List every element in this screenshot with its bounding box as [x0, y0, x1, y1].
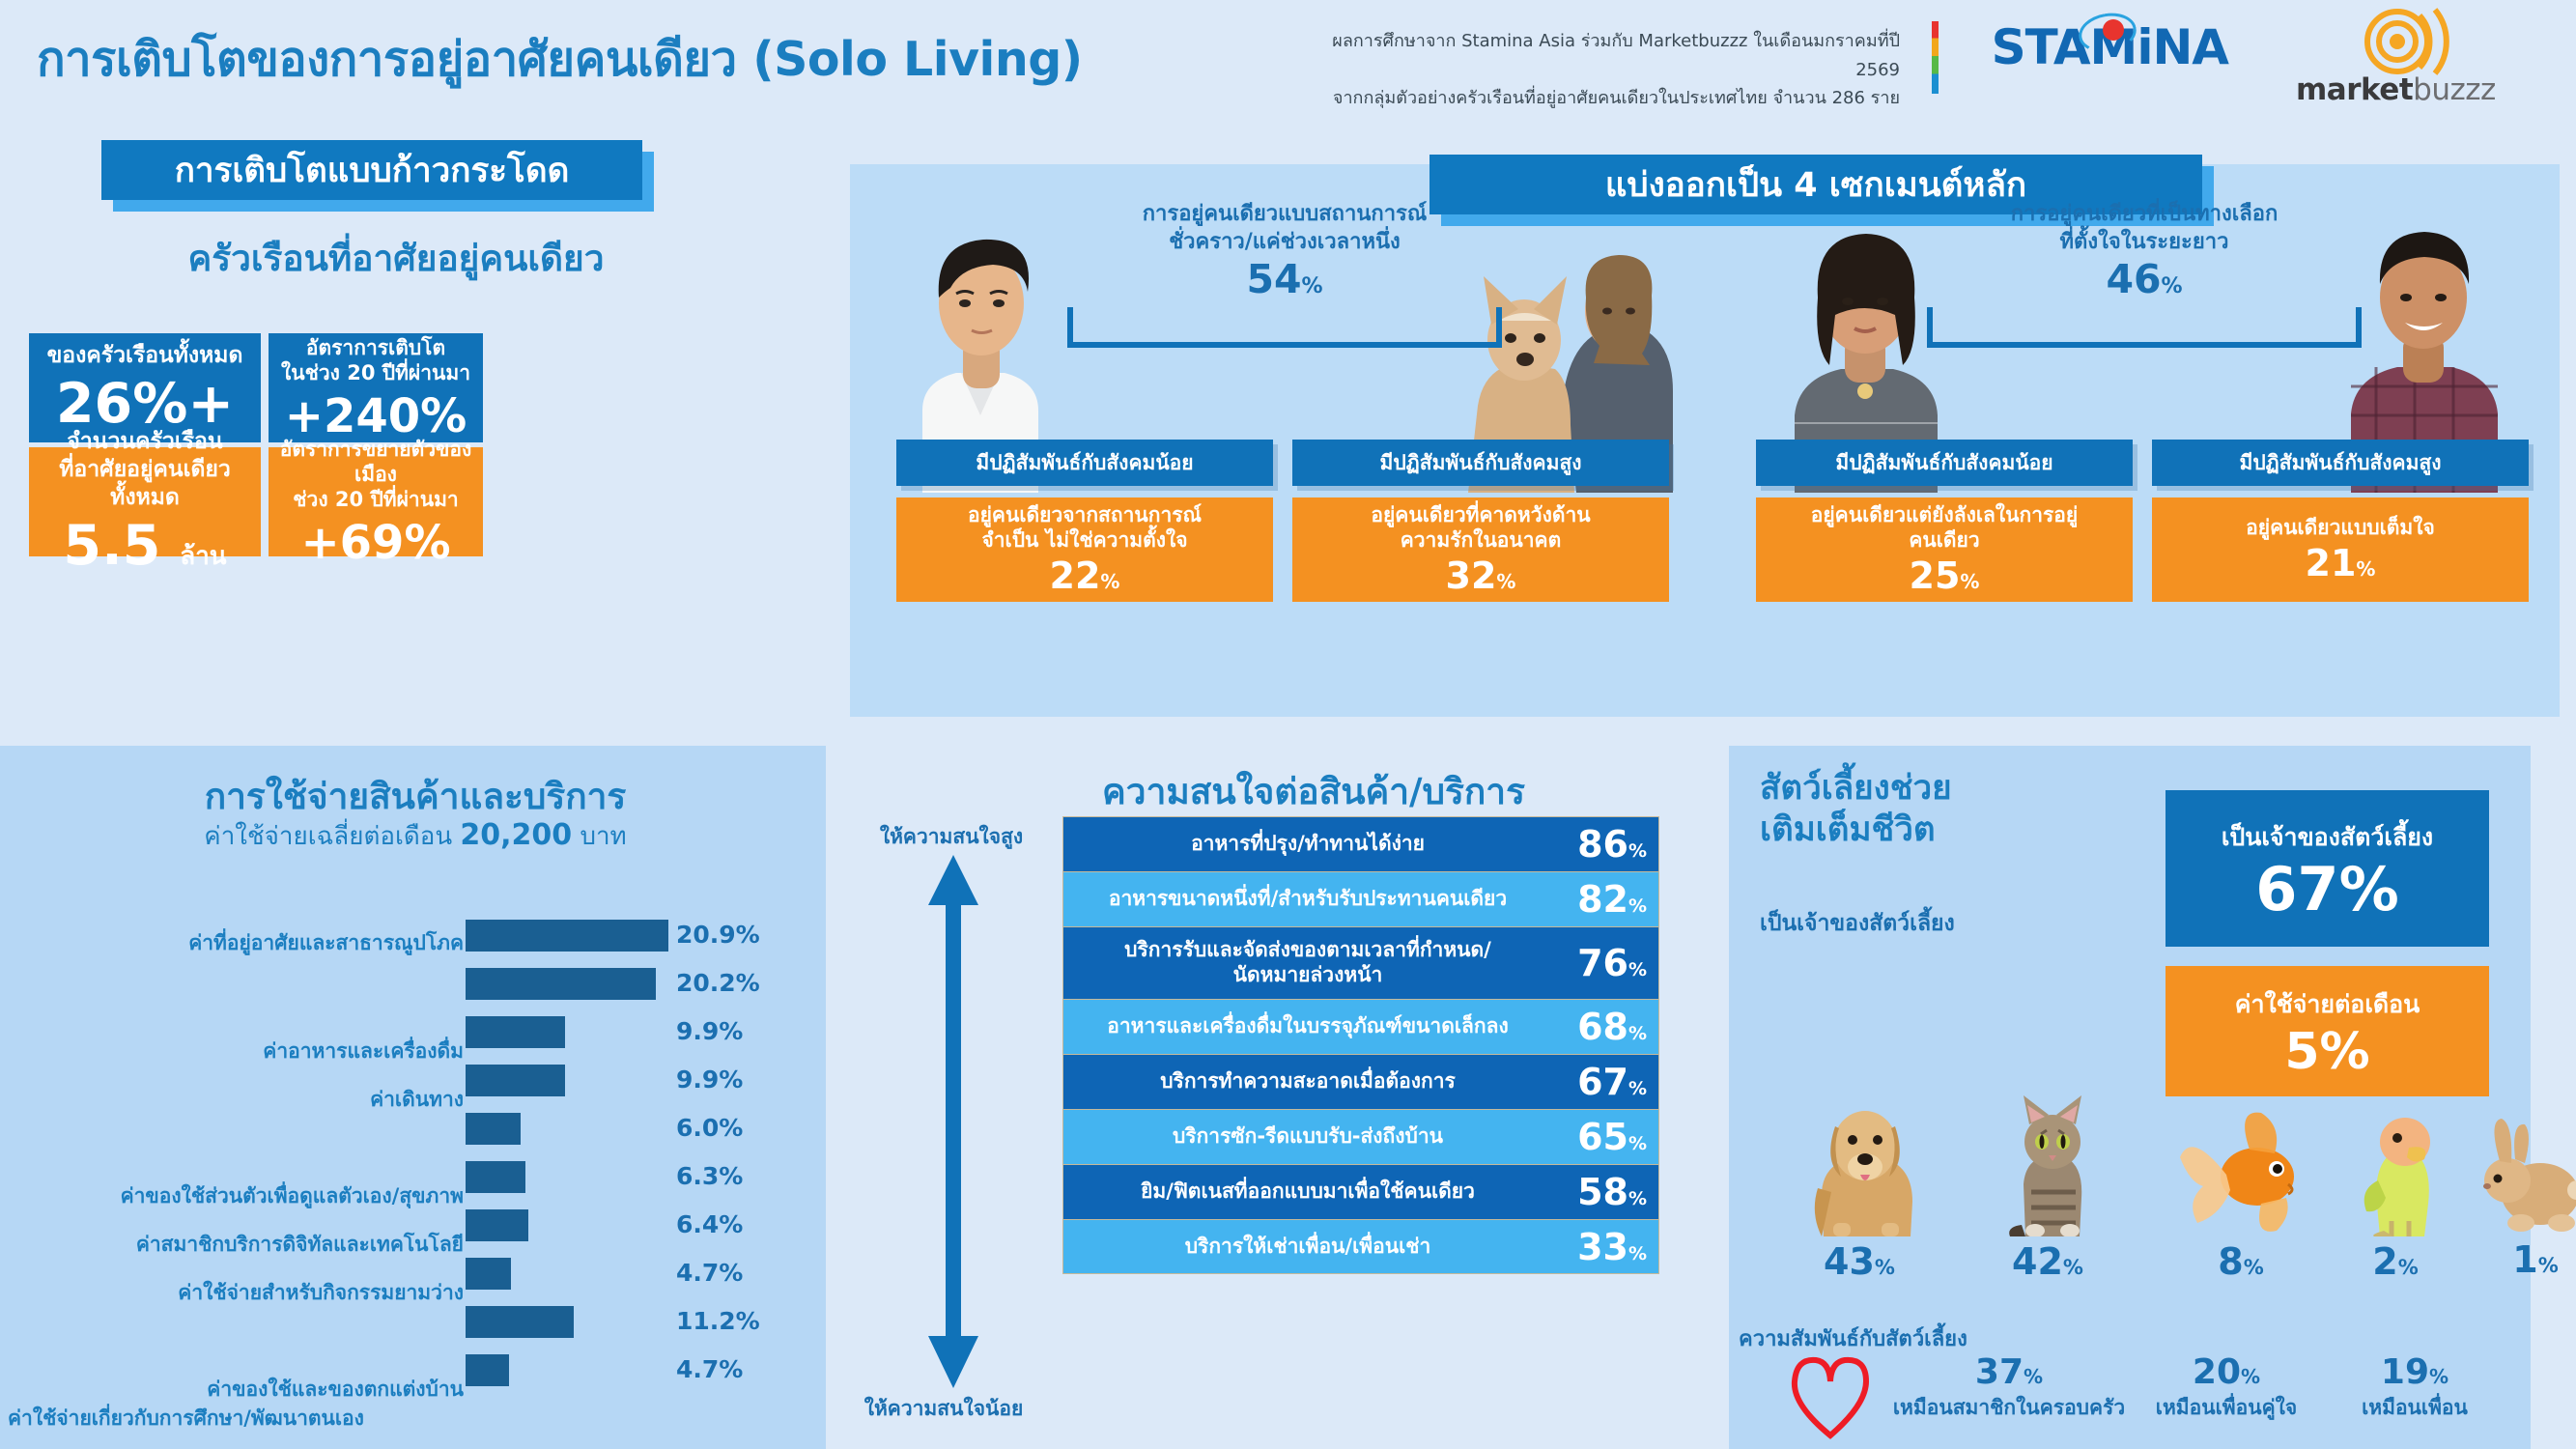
segment-data-box: อยู่คนเดียวแต่ยังลังเลในการอยู่ คนเดียว … — [1756, 497, 2133, 602]
spending-subtitle: ค่าใช้จ่ายเฉลี่ยต่อเดือน 20,200 บาท — [39, 816, 792, 856]
source-line-2: จากกลุ่มตัวอย่างครัวเรือนที่อยู่อาศัยคนเ… — [1311, 84, 1900, 113]
segment-percent-unit: % — [2162, 274, 2183, 298]
interest-percent: 33% — [1552, 1226, 1658, 1268]
growth-banner-label: การเติบโตแบบก้าวกระโดด — [101, 140, 642, 200]
pet-percent: 2% — [2318, 1240, 2473, 1283]
interest-percent-unit: % — [1628, 1078, 1647, 1099]
segment-data-number: 22 — [1050, 554, 1101, 597]
interest-percent-number: 82 — [1577, 878, 1628, 921]
bar-fill — [466, 1258, 511, 1290]
segment-label-low-social: มีปฏิสัมพันธ์กับสังคมน้อย — [1756, 440, 2133, 486]
stat-caption: อัตราการขยายตัวของเมือง ช่วง 20 ปีที่ผ่า… — [276, 437, 475, 513]
bar-value-label: 6.4% — [676, 1210, 802, 1238]
bar-row: ค่าใช้จ่ายสำหรับกิจกรรมยามว่าง4.7% — [0, 1256, 826, 1304]
interest-label: บริการรับและจัดส่งของตามเวลาที่กำหนด/ นั… — [1063, 938, 1552, 987]
interest-label: ยิม/ฟิตเนสที่ออกแบบมาเพื่อใช้คนเดียว — [1063, 1179, 1552, 1205]
segment-heading: การอยู่คนเดียวที่เป็นทางเลือก ที่ตั้งใจใ… — [1845, 201, 2444, 256]
interest-label: บริการให้เช่าเพื่อน/เพื่อนเช่า — [1063, 1235, 1552, 1260]
interest-row: บริการทำความสะอาดเมื่อต้องการ67% — [1062, 1054, 1659, 1109]
stat-box-households-share: ของครัวเรือนทั้งหมด 26%+ — [29, 333, 261, 442]
segment-data-box: อยู่คนเดียวที่คาดหวังด้าน ความรักในอนาคต… — [1292, 497, 1669, 602]
spending-subtitle-suffix: บาท — [580, 822, 626, 851]
marketbuzzz-light: buzzz — [2413, 72, 2496, 107]
bar-fill — [466, 1306, 574, 1338]
bar-fill — [466, 1209, 528, 1241]
bar-row: 11.2% — [0, 1304, 826, 1352]
growth-subtitle: ครัวเรือนที่อาศัยอยู่คนเดียว — [58, 230, 734, 287]
segment-label-high-social: มีปฏิสัมพันธ์กับสังคมสูง — [1292, 440, 1669, 486]
segment-data-text: อยู่คนเดียวแบบเต็มใจ — [2246, 515, 2435, 540]
pet-relation-friend: 19% เหมือนเพื่อน — [2318, 1352, 2511, 1424]
interest-percent-unit: % — [1628, 959, 1647, 980]
segment-data-unit: % — [1100, 570, 1119, 593]
stat-value: 5.5 ล้าน — [63, 518, 226, 576]
segment-data-unit: % — [1960, 570, 1979, 593]
relation-label: เหมือนสมาชิกในครอบครัว — [1874, 1392, 2144, 1424]
interest-percent-unit: % — [1628, 840, 1647, 862]
stat-value: +69% — [300, 519, 450, 567]
interest-percent-number: 58 — [1577, 1171, 1628, 1213]
interest-row: อาหารและเครื่องดื่มในบรรจุภัณฑ์ขนาดเล็กล… — [1062, 999, 1659, 1054]
relation-percent-number: 19 — [2381, 1352, 2429, 1392]
interest-percent: 76% — [1552, 942, 1658, 984]
interest-percent-number: 33 — [1577, 1226, 1628, 1268]
pet-relation-soulmate: 20% เหมือนเพื่อนคู่ใจ — [2115, 1352, 2337, 1424]
interest-axis-low-label: ให้ความสนใจน้อย — [842, 1393, 1045, 1425]
stat-number: 5.5 — [63, 514, 160, 578]
pet-stat-monthly-spend: ค่าใช้จ่ายต่อเดือน 5% — [2166, 966, 2489, 1096]
bar-row: ค่าสมาชิกบริการดิจิทัลและเทคโนโลยี6.4% — [0, 1207, 826, 1256]
interest-row: อาหารขนาดหนึ่งที่/สำหรับรับประทานคนเดียว… — [1062, 871, 1659, 926]
interest-row: บริการให้เช่าเพื่อน/เพื่อนเช่า33% — [1062, 1219, 1659, 1274]
bar-row: 20.2% — [0, 966, 826, 1014]
source-line-1: ผลการศึกษาจาก Stamina Asia ร่วมกับ Marke… — [1311, 27, 1900, 84]
heart-icon — [1787, 1350, 1874, 1446]
segment-label-low-social: มีปฏิสัมพันธ์กับสังคมน้อย — [896, 440, 1273, 486]
interest-row: บริการซัก-รีดแบบรับ-ส่งถึงบ้าน65% — [1062, 1109, 1659, 1164]
relation-label: เหมือนเพื่อนคู่ใจ — [2115, 1392, 2337, 1424]
relation-percent-unit: % — [2429, 1365, 2449, 1388]
interest-percent-number: 65 — [1577, 1116, 1628, 1158]
bar-value-label: 9.9% — [676, 1065, 802, 1094]
interest-label: อาหารขนาดหนึ่งที่/สำหรับรับประทานคนเดียว — [1063, 887, 1552, 912]
pet-stat-value: 67% — [2255, 860, 2398, 920]
bar-category-label: ค่าของใช้และของตกแต่งบ้าน — [58, 1374, 464, 1406]
interest-percent-unit: % — [1628, 1243, 1647, 1264]
segment-data-unit: % — [2356, 557, 2375, 581]
stat-caption: จำนวนครัวเรือน ที่อาศัยอยู่คนเดียวทั้งหม… — [37, 428, 253, 511]
stat-value: +240% — [285, 392, 467, 440]
segment-data-text: อยู่คนเดียวแต่ยังลังเลในการอยู่ คนเดียว — [1811, 502, 2078, 554]
segment-heading: การอยู่คนเดียวแบบสถานการณ์ ชั่วคราว/แค่ช… — [985, 201, 1584, 256]
bar-fill — [466, 1016, 565, 1048]
rabbit-icon — [2458, 1111, 2576, 1238]
bar-row: ค่าของใช้ส่วนตัวเพื่อดูแลตัวเอง/สุขภาพ6.… — [0, 1159, 826, 1207]
segment-label-high-social: มีปฏิสัมพันธ์กับสังคมสูง — [2152, 440, 2529, 486]
marketbuzzz-wordmark: marketbuzzz — [2296, 72, 2496, 107]
bar-row: 6.0% — [0, 1111, 826, 1159]
bar-fill — [466, 1065, 565, 1096]
segment-data-number: 25 — [1910, 554, 1961, 597]
page-header: การเติบโตของการอยู่อาศัยคนเดียว (Solo Li… — [0, 0, 2576, 116]
stat-box-household-count: จำนวนครัวเรือน ที่อาศัยอยู่คนเดียวทั้งหม… — [29, 447, 261, 556]
segment-group-intentional: การอยู่คนเดียวที่เป็นทางเลือก ที่ตั้งใจใ… — [1729, 164, 2560, 717]
pet-cell-parrot: 2% — [2318, 1105, 2473, 1283]
pet-cell-goldfish: 8% — [2154, 1101, 2328, 1283]
bar-value-label: 4.7% — [676, 1355, 802, 1383]
stamina-dot-icon — [2103, 19, 2124, 41]
interest-percent-unit: % — [1628, 1133, 1647, 1154]
pet-cell-dog: 43% — [1758, 1092, 1961, 1283]
stat-caption: อัตราการเติบโต ในช่วง 20 ปีที่ผ่านมา — [281, 335, 470, 386]
page-title: การเติบโตของการอยู่อาศัยคนเดียว (Solo Li… — [37, 21, 1083, 97]
segment-data-unit: % — [1496, 570, 1515, 593]
pet-percent-unit: % — [1875, 1256, 1895, 1279]
spending-subtitle-prefix: ค่าใช้จ่ายเฉลี่ยต่อเดือน — [204, 822, 452, 851]
segment-percent-number: 54 — [1246, 256, 1301, 302]
segment-data-number: 32 — [1446, 554, 1497, 597]
segment-bracket — [1067, 307, 1502, 348]
interest-list: อาหารที่ปรุง/ทำทานได้ง่าย86%อาหารขนาดหนึ… — [1062, 816, 1659, 1274]
bar-fill — [466, 968, 656, 1000]
pet-relation-family: 37% เหมือนสมาชิกในครอบครัว — [1874, 1352, 2144, 1424]
segment-percent: 54% — [985, 256, 1584, 302]
stat-box-growth-rate: อัตราการเติบโต ในช่วง 20 ปีที่ผ่านมา +24… — [269, 333, 483, 442]
segment-data-text: อยู่คนเดียวจากสถานการณ์ จำเป็น ไม่ใช่ควา… — [968, 502, 1202, 554]
pet-percent-number: 8 — [2218, 1240, 2243, 1283]
interest-percent-number: 76 — [1577, 942, 1628, 984]
pet-stat-ownership: เป็นเจ้าของสัตว์เลี้ยง 67% — [2166, 790, 2489, 947]
relation-percent: 37% — [1874, 1352, 2144, 1392]
bar-value-label: 20.2% — [676, 969, 802, 997]
pet-cell-cat: 42% — [1951, 1092, 2144, 1283]
marketbuzzz-bold: market — [2296, 72, 2413, 107]
pet-stat-caption: เป็นเจ้าของสัตว์เลี้ยง — [2222, 818, 2433, 857]
bar-value-label: 6.0% — [676, 1114, 802, 1142]
spending-bar-chart: ค่าที่อยู่อาศัยและสาธารณูปโภค20.9%20.2%ค… — [0, 918, 826, 1401]
segment-data-value: 22% — [1050, 554, 1120, 597]
pet-percent-number: 2 — [2372, 1240, 2397, 1283]
pet-stat-value: 5% — [2284, 1027, 2369, 1077]
bar-value-label: 6.3% — [676, 1162, 802, 1190]
dog-icon — [1758, 1092, 1961, 1240]
segment-data-value: 25% — [1910, 554, 1980, 597]
interest-percent: 68% — [1552, 1006, 1658, 1048]
bar-fill — [466, 920, 668, 952]
interest-percent-unit: % — [1628, 1023, 1647, 1044]
pets-title: สัตว์เลี้ยงช่วย เติมเต็มชีวิต — [1760, 768, 2175, 850]
interest-percent: 65% — [1552, 1116, 1658, 1158]
stat-caption: ของครัวเรือนทั้งหมด — [47, 342, 243, 370]
interest-percent: 67% — [1552, 1061, 1658, 1103]
interest-label: อาหารและเครื่องดื่มในบรรจุภัณฑ์ขนาดเล็กล… — [1063, 1014, 1552, 1039]
bar-fill — [466, 1354, 509, 1386]
bar-row: ค่าเดินทาง9.9% — [0, 1063, 826, 1111]
bar-value-label: 4.7% — [676, 1259, 802, 1287]
bar-value-label: 11.2% — [676, 1307, 802, 1335]
interest-percent-number: 68 — [1577, 1006, 1628, 1048]
growth-banner: การเติบโตแบบก้าวกระโดด — [101, 140, 642, 200]
source-note: ผลการศึกษาจาก Stamina Asia ร่วมกับ Marke… — [1311, 27, 1900, 113]
segment-data-text: อยู่คนเดียวที่คาดหวังด้าน ความรักในอนาคต — [1371, 502, 1590, 554]
pet-percent: 42% — [1951, 1240, 2144, 1283]
marketbuzzz-logo: marketbuzzz — [2296, 8, 2537, 109]
pets-owner-label: เป็นเจ้าของสัตว์เลี้ยง — [1760, 906, 1955, 941]
interest-axis-arrow-icon — [920, 855, 986, 1392]
segment-data-value: 32% — [1446, 554, 1516, 597]
stat-unit: ล้าน — [180, 542, 226, 571]
interest-axis-high-label: ให้ความสนใจสูง — [850, 821, 1053, 853]
interest-label: อาหารที่ปรุง/ทำทานได้ง่าย — [1063, 832, 1552, 857]
interest-percent-unit: % — [1628, 895, 1647, 917]
pet-stat-caption: ค่าใช้จ่ายต่อเดือน — [2235, 985, 2420, 1024]
interest-row: ยิม/ฟิตเนสที่ออกแบบมาเพื่อใช้คนเดียว58% — [1062, 1164, 1659, 1219]
interest-label: บริการซัก-รีดแบบรับ-ส่งถึงบ้าน — [1063, 1124, 1552, 1150]
cat-icon — [1951, 1092, 2144, 1240]
pet-percent-number: 43 — [1824, 1240, 1875, 1283]
segment-percent-unit: % — [1302, 274, 1323, 298]
spending-average-value: 20,200 — [460, 818, 572, 852]
interest-percent: 82% — [1552, 878, 1658, 921]
bar-row: ค่าที่อยู่อาศัยและสาธารณูปโภค20.9% — [0, 918, 826, 966]
stat-box-urbanization-rate: อัตราการขยายตัวของเมือง ช่วง 20 ปีที่ผ่า… — [269, 447, 483, 556]
segment-data-value: 21% — [2306, 542, 2376, 584]
relation-label: เหมือนเพื่อน — [2318, 1392, 2511, 1424]
segment-percent: 46% — [1845, 256, 2444, 302]
relation-percent: 20% — [2115, 1352, 2337, 1392]
parrot-icon — [2318, 1105, 2473, 1240]
segment-data-number: 21 — [2306, 542, 2357, 584]
segment-percent-number: 46 — [2106, 256, 2161, 302]
logo-divider — [1932, 21, 1939, 94]
stat-value: 26%+ — [56, 376, 234, 434]
relation-percent: 19% — [2318, 1352, 2511, 1392]
bar-category-label: ค่าที่อยู่อาศัยและสาธารณูปโภค — [58, 927, 464, 959]
interest-percent: 86% — [1552, 823, 1658, 866]
relation-percent-unit: % — [2241, 1365, 2260, 1388]
pet-percent-number: 1 — [2512, 1238, 2537, 1281]
pet-percent-unit: % — [2244, 1256, 2264, 1279]
pet-percent-unit: % — [2398, 1256, 2419, 1279]
interest-percent-unit: % — [1628, 1188, 1647, 1209]
bar-row: ค่าอาหารและเครื่องดื่ม9.9% — [0, 1014, 826, 1063]
interest-row: บริการรับและจัดส่งของตามเวลาที่กำหนด/ นั… — [1062, 926, 1659, 999]
pet-percent-unit: % — [2538, 1254, 2559, 1277]
segment-data-box: อยู่คนเดียวจากสถานการณ์ จำเป็น ไม่ใช่ควา… — [896, 497, 1273, 602]
segment-group-situational: การอยู่คนเดียวแบบสถานการณ์ ชั่วคราว/แค่ช… — [869, 164, 1700, 717]
segment-data-box: อยู่คนเดียวแบบเต็มใจ 21% — [2152, 497, 2529, 602]
relation-percent-unit: % — [2024, 1365, 2043, 1388]
marketbuzzz-rings-icon — [2364, 8, 2475, 79]
interest-percent-number: 67 — [1577, 1061, 1628, 1103]
bar-value-label: 9.9% — [676, 1017, 802, 1045]
pet-percent: 43% — [1758, 1240, 1961, 1283]
pet-percent-unit: % — [2063, 1256, 2083, 1279]
relation-percent-number: 37 — [1975, 1352, 2024, 1392]
interest-percent-number: 86 — [1577, 823, 1628, 866]
interest-label: บริการทำความสะอาดเมื่อต้องการ — [1063, 1069, 1552, 1094]
goldfish-icon — [2154, 1101, 2328, 1240]
pet-percent: 1% — [2458, 1238, 2576, 1281]
interest-percent: 58% — [1552, 1171, 1658, 1213]
bar-fill — [466, 1113, 521, 1145]
pet-cell-rabbit: 1% — [2458, 1111, 2576, 1281]
infographic-page: การเติบโตของการอยู่อาศัยคนเดียว (Solo Li… — [0, 0, 2576, 1449]
bar-value-label: 20.9% — [676, 921, 802, 949]
segment-bracket — [1927, 307, 2362, 348]
bar-row: ค่าของใช้และของตกแต่งบ้าน4.7% — [0, 1352, 826, 1401]
pet-percent-number: 42 — [2012, 1240, 2063, 1283]
bar-fill — [466, 1161, 525, 1193]
pet-percent: 8% — [2154, 1240, 2328, 1283]
relation-percent-number: 20 — [2193, 1352, 2241, 1392]
interest-title: ความสนใจต่อสินค้า/บริการ — [966, 763, 1661, 820]
bar-category-label: ค่าใช้จ่ายเกี่ยวกับการศึกษา/พัฒนาตนเอง — [8, 1403, 471, 1435]
interest-row: อาหารที่ปรุง/ทำทานได้ง่าย86% — [1062, 816, 1659, 871]
